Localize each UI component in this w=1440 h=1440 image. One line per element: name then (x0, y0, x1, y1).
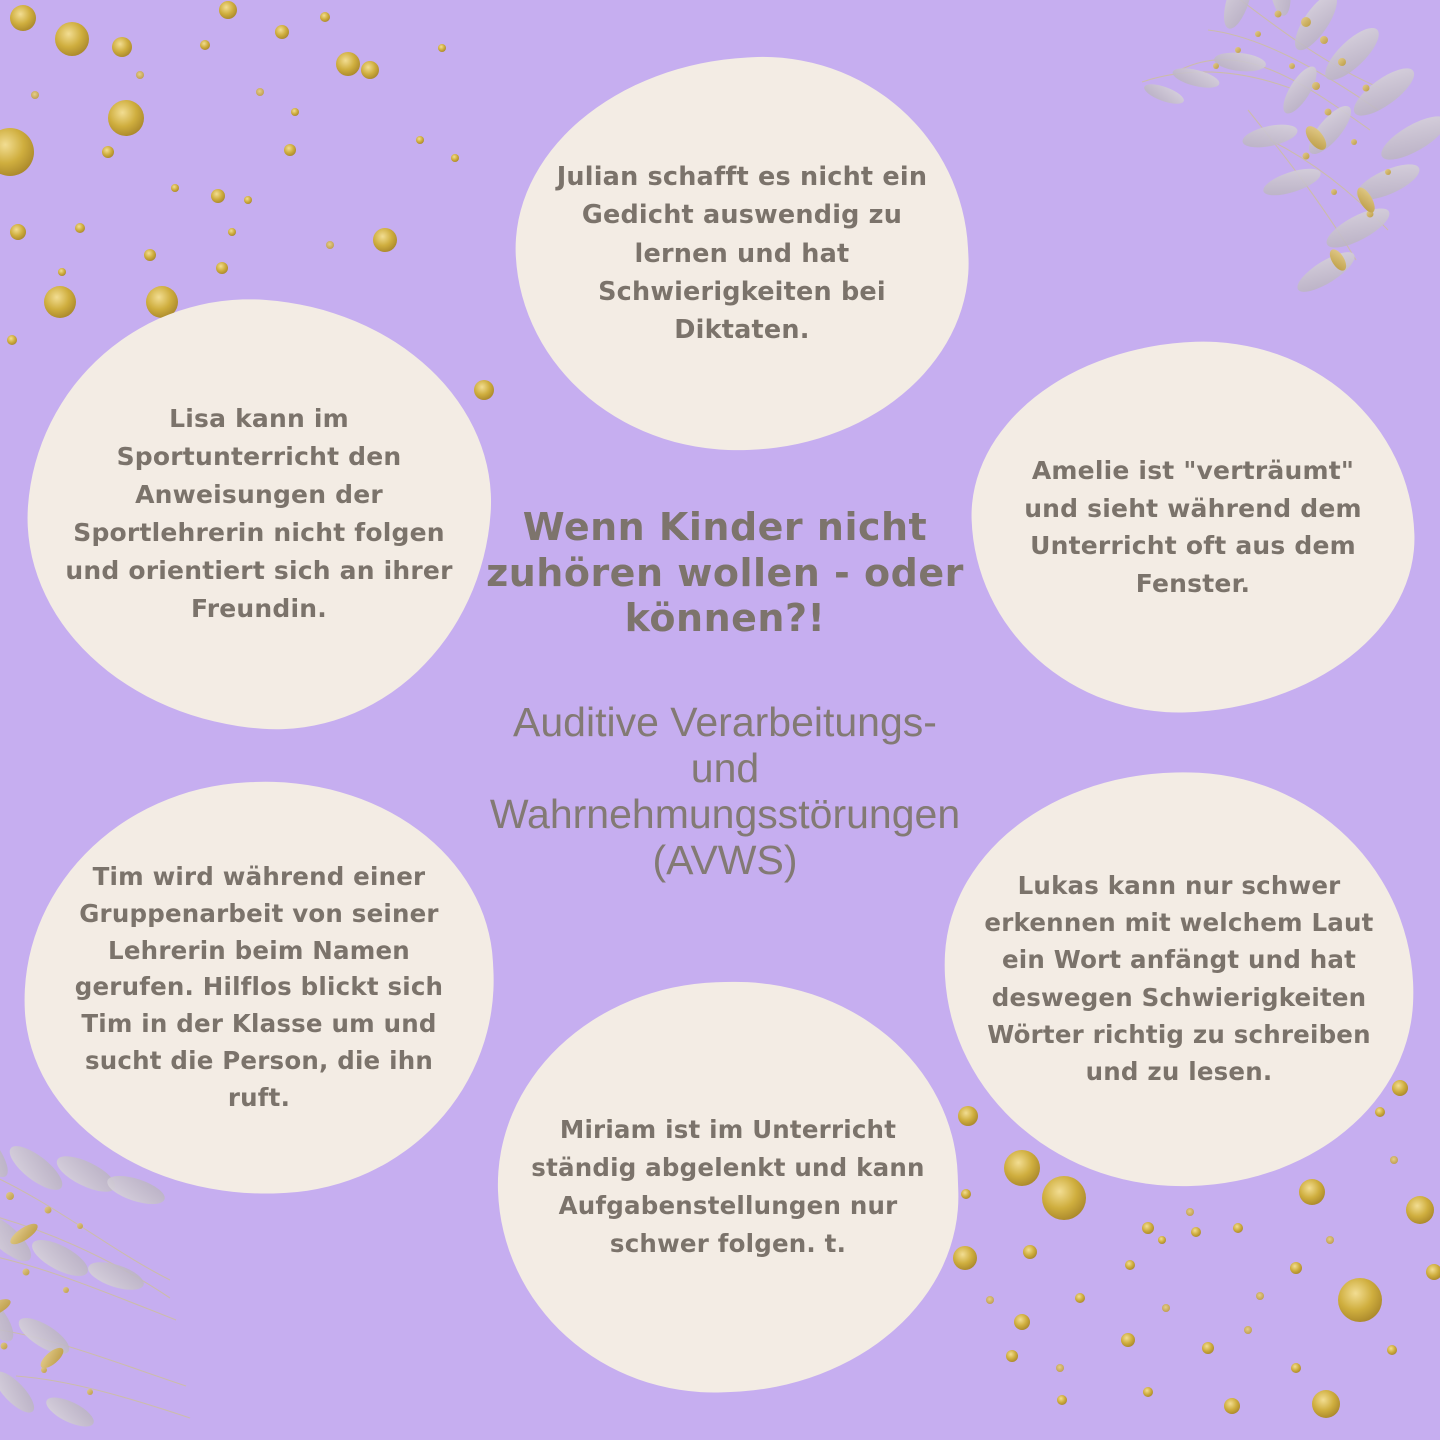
speech-bubble-lisa: Lisa kann im Sportunterricht den Anweisu… (14, 284, 505, 743)
bubble-text-lukas: Lukas kann nur schwer erkennen mit welch… (972, 867, 1386, 1090)
center-text-block: Wenn Kinder nicht zuhören wollen - oder … (455, 505, 995, 883)
page-title: Wenn Kinder nicht zuhören wollen - oder … (455, 505, 995, 642)
infographic-canvas: Julian schafft es nicht ein Gedicht ausw… (0, 0, 1440, 1440)
speech-bubble-lukas: Lukas kann nur schwer erkennen mit welch… (933, 760, 1424, 1198)
bubble-text-julian: Julian schafft es nicht ein Gedicht ausw… (552, 158, 932, 349)
bubble-text-tim: Tim wird während einer Gruppenarbeit von… (53, 859, 465, 1116)
bubble-text-amelie: Amelie ist "verträumt" und sieht während… (1007, 452, 1379, 602)
bubble-text-miriam: Miriam ist im Unterricht ständig abgelen… (530, 1111, 926, 1263)
speech-bubble-julian: Julian schafft es nicht ein Gedicht ausw… (506, 46, 978, 461)
speech-bubble-amelie: Amelie ist "verträumt" und sieht während… (966, 334, 1421, 719)
bubble-text-lisa: Lisa kann im Sportunterricht den Anweisu… (59, 400, 459, 628)
page-subtitle: Auditive Verarbeitungs- und Wahrnehmungs… (455, 700, 995, 884)
speech-bubble-miriam: Miriam ist im Unterricht ständig abgelen… (491, 974, 965, 1400)
eucalyptus-branch-icon (1120, 0, 1440, 310)
